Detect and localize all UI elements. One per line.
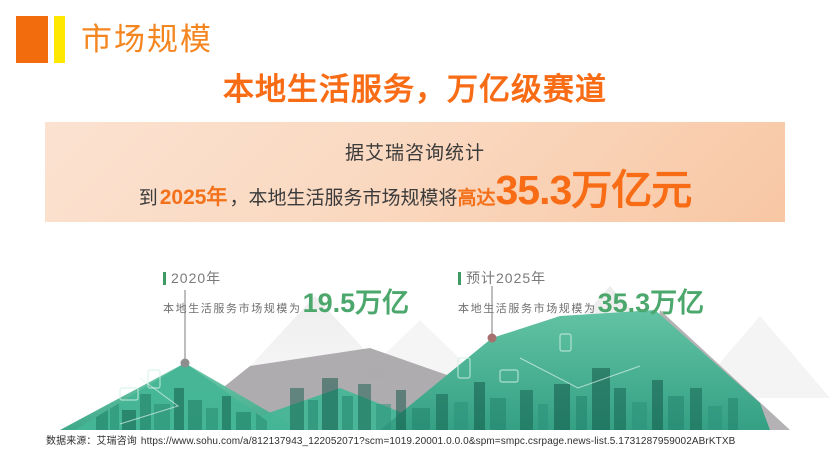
callout-2020: 2020年 本地生活服务市场规模为 19.5万亿	[163, 268, 409, 317]
callout-2020-description: 本地生活服务市场规模为	[163, 300, 302, 316]
callout-2025-value: 35.3万亿	[598, 290, 705, 317]
callout-2025-description: 本地生活服务市场规模为	[458, 300, 597, 316]
banner-source-line: 据艾瑞咨询统计	[45, 138, 785, 165]
banner-statement-line: 到 2025年 ，本地生活服务市场规模将 高达 35.3万亿元	[45, 174, 785, 211]
source-url[interactable]: https://www.sohu.com/a/812137943_1220520…	[141, 436, 735, 447]
callout-2025-tick-icon	[458, 272, 461, 285]
source-provider: 艾瑞咨询	[97, 436, 137, 447]
callout-2025-body: 本地生活服务市场规模为 35.3万亿	[458, 290, 704, 317]
callout-2020-tick-icon	[163, 272, 166, 285]
callout-2025-year-label: 预计2025年	[466, 268, 546, 288]
source-label: 数据来源：	[46, 436, 97, 447]
callout-2020-value: 19.5万亿	[303, 290, 410, 317]
banner-emphasis: 高达	[457, 183, 495, 210]
callout-2020-body: 本地生活服务市场规模为 19.5万亿	[163, 290, 409, 317]
callout-2025-header: 预计2025年	[458, 268, 704, 288]
callout-2025: 预计2025年 本地生活服务市场规模为 35.3万亿	[458, 268, 704, 317]
main-headline: 本地生活服务，万亿级赛道	[0, 64, 830, 109]
slide-header: 市场规模	[16, 15, 213, 63]
page-title: 市场规模	[81, 24, 213, 55]
mountain-skyline-graphic	[0, 238, 830, 430]
banner-big-value: 35.3万亿元	[495, 174, 691, 207]
cityscape-mountain-illustration	[0, 238, 830, 430]
callout-2020-year-label: 2020年	[171, 268, 221, 288]
source-footer: 数据来源：艾瑞咨询https://www.sohu.com/a/81213794…	[46, 432, 735, 447]
banner-prefix: 到	[139, 183, 158, 210]
slide-canvas: 市场规模 本地生活服务，万亿级赛道 据艾瑞咨询统计 到 2025年 ，本地生活服…	[0, 0, 830, 467]
header-yellow-bar-icon	[54, 16, 65, 63]
banner-year: 2025年	[160, 181, 228, 211]
highlight-banner: 据艾瑞咨询统计 到 2025年 ，本地生活服务市场规模将 高达 35.3万亿元	[45, 122, 785, 222]
header-orange-square-icon	[16, 16, 48, 63]
callout-2020-header: 2020年	[163, 268, 409, 288]
banner-middle-text: ，本地生活服务市场规模将	[229, 183, 457, 210]
